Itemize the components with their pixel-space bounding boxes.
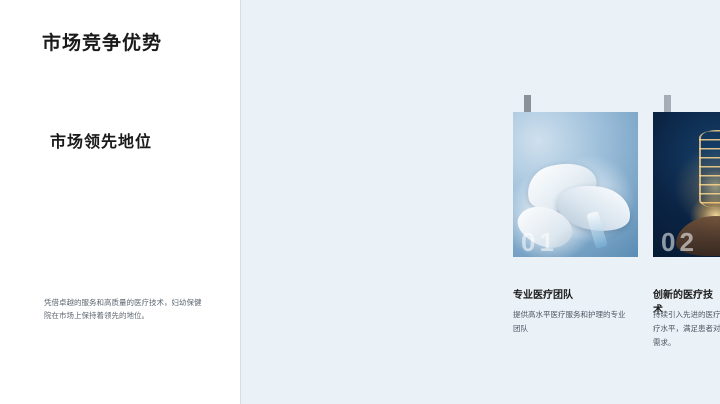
left-panel: 市场竞争优势 市场领先地位 凭借卓越的服务和高质量的医疗技术，妇幼保健院在市场上… (0, 0, 240, 404)
card-number-1: 01 (521, 229, 558, 255)
page-title: 市场竞争优势 (42, 28, 162, 55)
slide-subtitle: 市场领先地位 (50, 128, 152, 152)
slide-root: 市场竞争优势 市场领先地位 凭借卓越的服务和高质量的医疗技术，妇幼保健院在市场上… (0, 0, 720, 404)
card-image-2[interactable]: 02 (653, 112, 720, 257)
left-body-text: 凭借卓越的服务和高质量的医疗技术，妇幼保健院在市场上保持着领先的地位。 (44, 296, 204, 322)
right-panel: 01 专业医疗团队 提供高水平医疗服务和护理的专业团队 02 创新的医疗技术 持… (241, 0, 720, 404)
card-number-2: 02 (661, 229, 698, 255)
card-desc-1: 提供高水平医疗服务和护理的专业团队 (513, 308, 631, 336)
card-desc-2: 持续引入先进的医疗技术，提升诊疗水平，满足患者对高品质医疗的需求。 (653, 308, 720, 350)
card-title-1: 专业医疗团队 (513, 286, 573, 301)
card-image-1[interactable]: 01 (513, 112, 638, 257)
